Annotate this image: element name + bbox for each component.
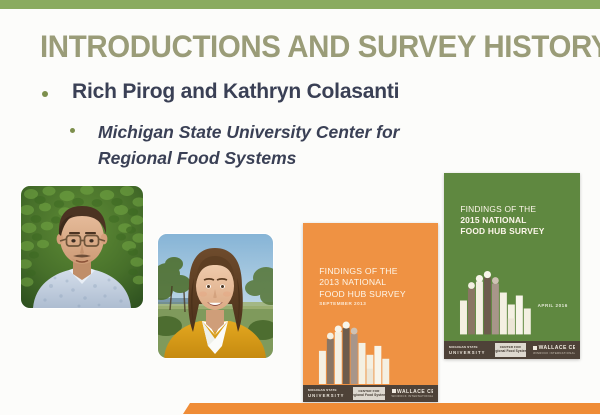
photo-kathryn-colasanti bbox=[158, 234, 273, 358]
heading-line: FINDINGS OF THE bbox=[319, 266, 432, 277]
silo-skyline-graphic bbox=[456, 247, 546, 334]
report-cover-2015-heading: FINDINGS OF THE 2015 NATIONAL FOOD HUB S… bbox=[460, 204, 574, 237]
report-cover-2015-logo-strip: MICHIGAN STATE UNIVERSITY CENTER FOR Reg… bbox=[444, 341, 580, 359]
logo-center-regional-food-systems: CENTER FOR Regional Food Systems bbox=[495, 343, 527, 356]
wallace-square-icon bbox=[392, 389, 396, 393]
photo-rich-pirog bbox=[21, 186, 143, 308]
logo-center-regional-food-systems: CENTER FOR Regional Food Systems bbox=[353, 387, 384, 400]
logo-wallace-center: WALLACE CENTER WINROCK INTERNATIONAL bbox=[530, 344, 575, 357]
logo-line-2: Regional Food Systems bbox=[495, 350, 527, 354]
logo-wallace-center: WALLACE CENTER WINROCK INTERNATIONAL bbox=[389, 387, 434, 399]
bullet-dot-icon bbox=[70, 128, 75, 133]
silo-skyline-graphic bbox=[315, 295, 404, 385]
logo-line-2: UNIVERSITY bbox=[308, 393, 349, 398]
wallace-square-icon bbox=[533, 346, 537, 350]
logo-line-2: WINROCK INTERNATIONAL bbox=[392, 395, 434, 398]
heading-line: 2015 NATIONAL bbox=[460, 215, 574, 226]
photo-rich-pirog-image bbox=[21, 186, 143, 308]
logo-line-1-text: WALLACE CENTER bbox=[397, 389, 433, 395]
report-cover-2013: FINDINGS OF THE 2013 NATIONAL FOOD HUB S… bbox=[303, 223, 438, 402]
report-cover-2015: FINDINGS OF THE 2015 NATIONAL FOOD HUB S… bbox=[444, 173, 580, 359]
logo-michigan-state: MICHIGAN STATE UNIVERSITY bbox=[449, 344, 491, 357]
heading-line: 2013 NATIONAL bbox=[319, 277, 432, 288]
report-cover-2013-logo-strip: MICHIGAN STATE UNIVERSITY CENTER FOR Reg… bbox=[303, 385, 438, 402]
page-title: INTRODUCTIONS AND SURVEY HISTORY bbox=[40, 30, 554, 63]
logo-michigan-state: MICHIGAN STATE UNIVERSITY bbox=[308, 387, 349, 399]
heading-line: FOOD HUB SURVEY bbox=[460, 226, 574, 237]
slide-top-accent-bar bbox=[0, 0, 600, 9]
logo-line-2: WINROCK INTERNATIONAL bbox=[533, 352, 575, 355]
bullet-level-1-label: Rich Pirog and Kathryn Colasanti bbox=[72, 80, 399, 104]
slide-bottom-accent-bar bbox=[183, 403, 600, 414]
bullet-dot-icon bbox=[42, 91, 48, 97]
logo-line-2: UNIVERSITY bbox=[449, 350, 491, 355]
presentation-slide: INTRODUCTIONS AND SURVEY HISTORY Rich Pi… bbox=[0, 0, 600, 415]
bullet-level-1: Rich Pirog and Kathryn Colasanti bbox=[42, 80, 399, 104]
bullet-level-2: Michigan State University Center for Reg… bbox=[70, 119, 428, 172]
logo-line-1-text: WALLACE CENTER bbox=[539, 345, 575, 351]
photo-kathryn-colasanti-image bbox=[158, 234, 273, 358]
heading-line: FINDINGS OF THE bbox=[460, 204, 574, 215]
bullet-level-2-label: Michigan State University Center for Reg… bbox=[98, 119, 428, 172]
logo-line-2: Regional Food Systems bbox=[353, 394, 384, 398]
